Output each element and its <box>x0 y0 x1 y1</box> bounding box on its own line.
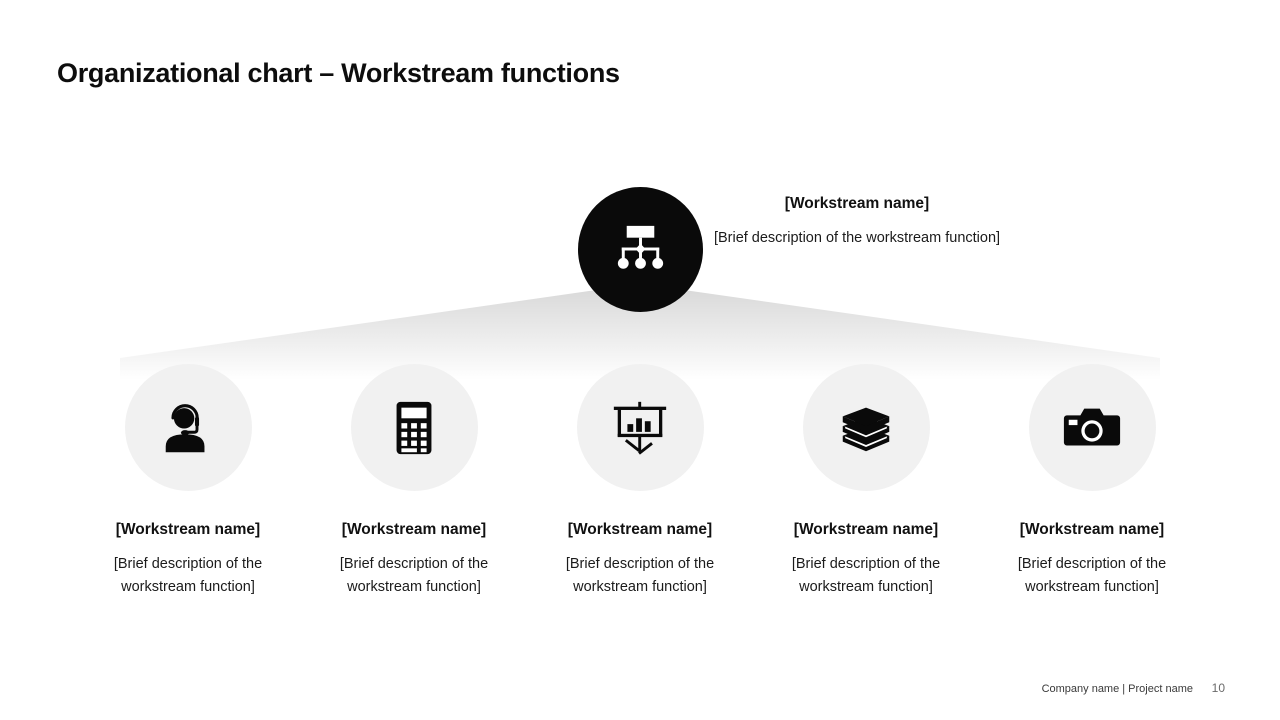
workstream-node-2-text: [Workstream name] [Brief description of … <box>319 520 509 599</box>
workstream-node-3-text: [Workstream name] [Brief description of … <box>545 520 735 599</box>
presentation-chart-icon <box>609 397 671 459</box>
books-stack-icon <box>835 397 897 459</box>
workstream-node-5-description: [Brief description of the workstream fun… <box>997 553 1187 599</box>
root-node-text: [Workstream name] [Brief description of … <box>712 194 1002 250</box>
workstream-node-3-name: [Workstream name] <box>545 520 735 540</box>
workstream-node-1-description: [Brief description of the workstream fun… <box>93 553 283 599</box>
root-node-description: [Brief description of the workstream fun… <box>712 227 1002 250</box>
org-chart-icon <box>609 218 672 281</box>
footer-credit: Company name | Project name <box>1042 683 1193 695</box>
workstream-node-4-text: [Workstream name] [Brief description of … <box>771 520 961 599</box>
workstream-node-4-name: [Workstream name] <box>771 520 961 540</box>
support-agent-icon <box>157 397 219 459</box>
workstream-node-5-circle <box>1029 364 1156 491</box>
workstream-node-1-name: [Workstream name] <box>93 520 283 540</box>
workstream-node-1-text: [Workstream name] [Brief description of … <box>93 520 283 599</box>
workstream-node-4[interactable]: [Workstream name] [Brief description of … <box>753 364 979 599</box>
workstream-node-3[interactable]: [Workstream name] [Brief description of … <box>527 364 753 599</box>
workstream-node-1[interactable]: [Workstream name] [Brief description of … <box>75 364 301 599</box>
workstream-node-3-description: [Brief description of the workstream fun… <box>545 553 735 599</box>
workstream-node-2-name: [Workstream name] <box>319 520 509 540</box>
root-node-name: [Workstream name] <box>712 194 1002 214</box>
workstream-node-4-circle <box>803 364 930 491</box>
workstream-node-2-circle <box>351 364 478 491</box>
page-title: Organizational chart – Workstream functi… <box>57 58 620 89</box>
workstream-node-4-description: [Brief description of the workstream fun… <box>771 553 961 599</box>
calculator-icon <box>383 397 445 459</box>
workstream-node-3-circle <box>577 364 704 491</box>
workstream-node-5[interactable]: [Workstream name] [Brief description of … <box>979 364 1205 599</box>
workstream-children-row: [Workstream name] [Brief description of … <box>75 364 1205 599</box>
workstream-node-5-text: [Workstream name] [Brief description of … <box>997 520 1187 599</box>
camera-icon <box>1061 397 1123 459</box>
root-node[interactable]: [Workstream name] [Brief description of … <box>578 187 1118 313</box>
workstream-node-2[interactable]: [Workstream name] [Brief description of … <box>301 364 527 599</box>
workstream-node-2-description: [Brief description of the workstream fun… <box>319 553 509 599</box>
workstream-node-5-name: [Workstream name] <box>997 520 1187 540</box>
footer-page-number: 10 <box>1212 681 1225 695</box>
workstream-node-1-circle <box>125 364 252 491</box>
